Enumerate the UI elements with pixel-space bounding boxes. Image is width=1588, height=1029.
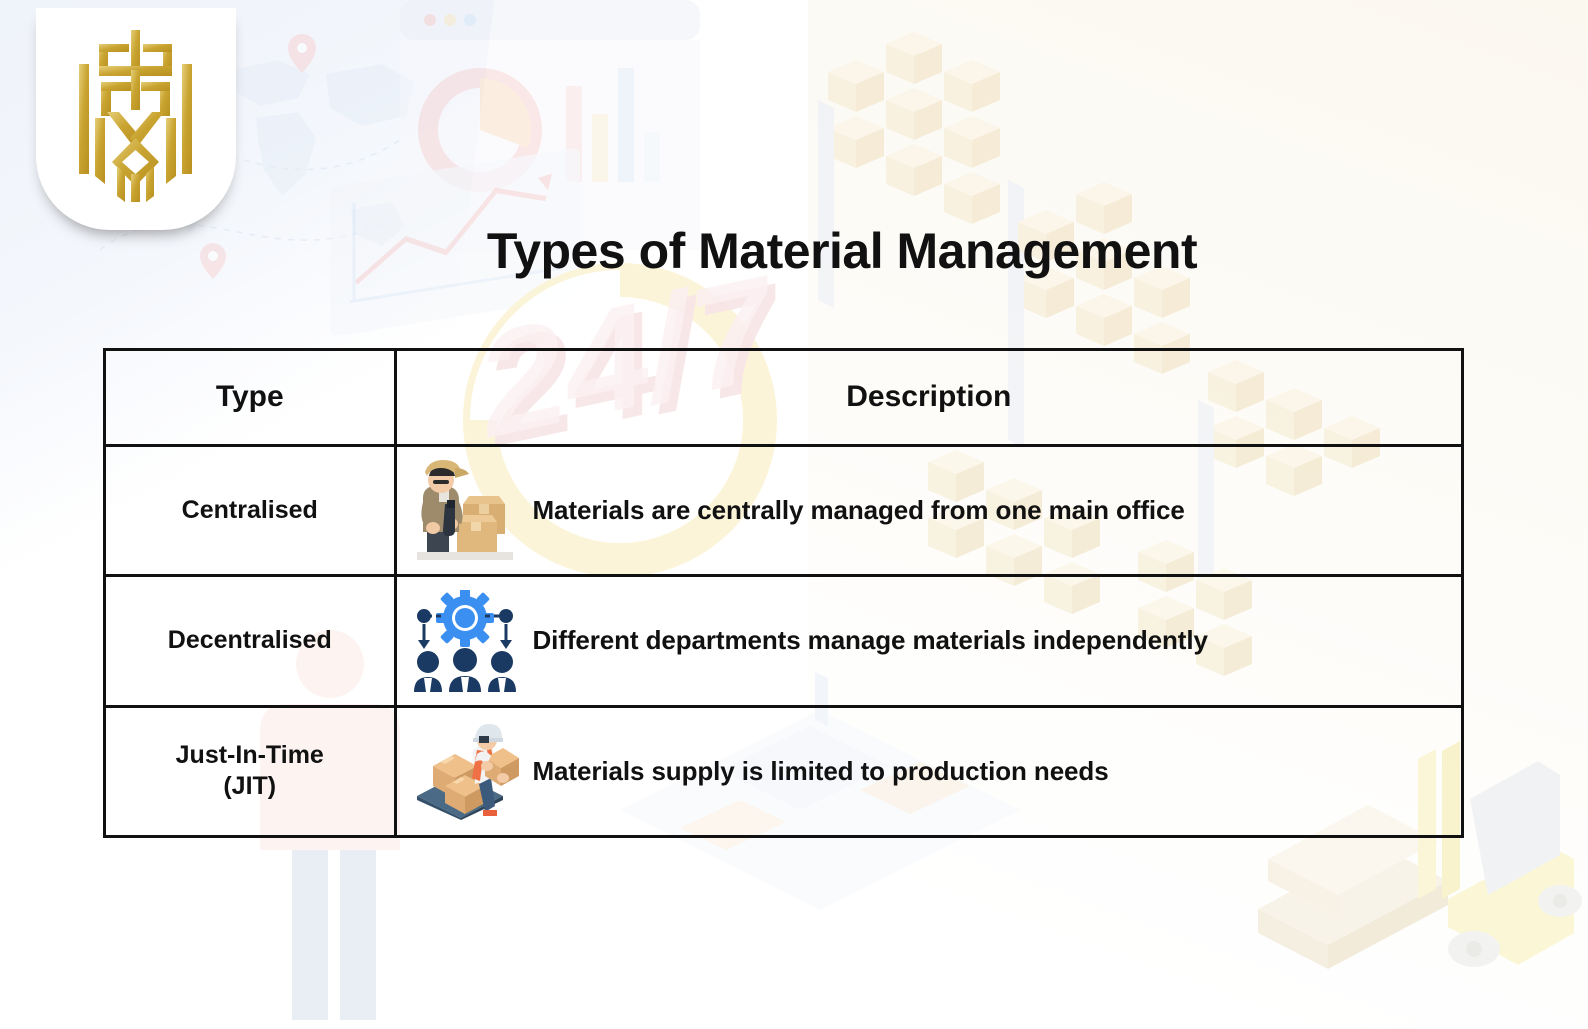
description-cell-centralised: Materials are centrally managed from one… [395,445,1461,575]
type-cell-centralised: Centralised [106,445,395,575]
column-header-description: Description [395,351,1461,445]
table-row: Centralised [106,445,1461,575]
type-cell-decentralised: Decentralised [106,576,395,706]
table-header-row: Type Description [106,351,1461,445]
type-label-line1: Just-In-Time [106,740,394,771]
description-text: Different departments manage materials i… [533,625,1208,656]
description-cell-jit: Materials supply is limited to productio… [395,706,1461,835]
column-header-type: Type [106,351,395,445]
description-cell-decentralised: Different departments manage materials i… [395,576,1461,706]
warehouse-worker-scanner-icon [411,459,519,563]
type-cell-jit: Just-In-Time (JIT) [106,706,395,835]
material-management-table: Type Description Centralised [103,348,1464,838]
gear-team-network-icon [411,589,519,693]
table-row: Just-In-Time (JIT) [106,706,1461,835]
page-title: Types of Material Management [0,222,1588,280]
type-label-line2: (JIT) [106,771,394,802]
slide-canvas: 24/7 24/7 [0,0,1588,1029]
description-text: Materials are centrally managed from one… [533,495,1185,526]
description-text: Materials supply is limited to productio… [533,756,1109,787]
table-row: Decentralised [106,576,1461,706]
company-crest-logo [61,26,211,206]
worker-pallet-boxes-icon [411,719,519,823]
logo-badge [36,8,236,230]
